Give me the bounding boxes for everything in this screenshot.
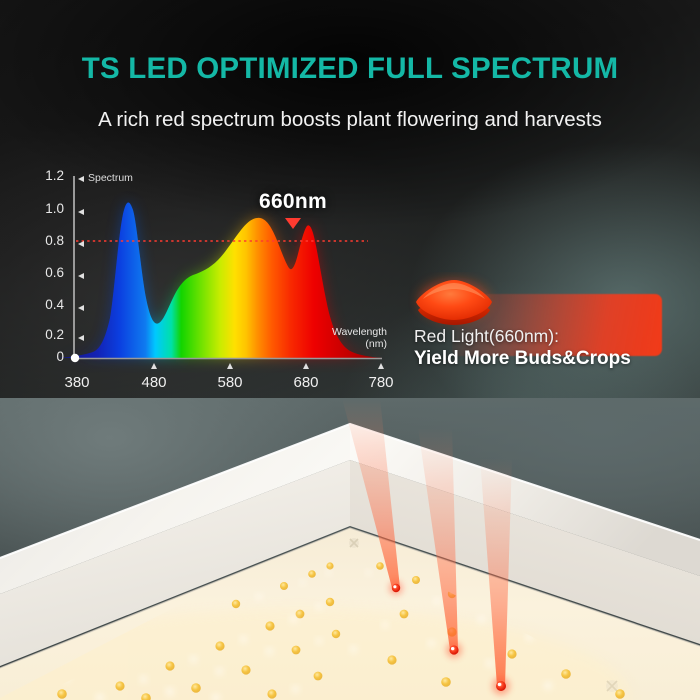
- x-axis-title-text: Wavelength: [332, 326, 387, 338]
- x-tick-label: 380: [52, 374, 102, 391]
- peak-marker-triangle-icon: [285, 218, 301, 229]
- y-tick-label: 1.2: [30, 168, 64, 183]
- x-tick-label: 680: [281, 374, 331, 391]
- led-panel-illustration: [0, 398, 700, 700]
- x-tick-label: 580: [205, 374, 255, 391]
- page-title: TS LED OPTIMIZED FULL SPECTRUM: [0, 52, 700, 86]
- screw-icon: [606, 680, 618, 692]
- red-led: [446, 642, 462, 658]
- x-axis-title: Wavelength (nm): [313, 326, 387, 350]
- promo-image: TS LED OPTIMIZED FULL SPECTRUM A rich re…: [0, 0, 700, 700]
- y-tick-label: 1.0: [30, 201, 64, 216]
- x-tick-label: 480: [129, 374, 179, 391]
- x-tick-marks: [151, 363, 384, 369]
- y-tick-label: 0: [30, 349, 64, 364]
- callout-line-1: Red Light(660nm):: [414, 326, 559, 347]
- y-tick-marks: [78, 176, 84, 341]
- red-led: [492, 677, 510, 695]
- x-tick-label: 780: [356, 374, 406, 391]
- y-tick-label: 0.2: [30, 327, 64, 342]
- y-tick-label: 0.8: [30, 233, 64, 248]
- y-tick-label: 0.4: [30, 297, 64, 312]
- y-tick-label: 0.6: [30, 265, 64, 280]
- led-diamond-icon: [408, 272, 500, 332]
- callout-line-2: Yield More Buds&Crops: [414, 348, 631, 370]
- page-subtitle: A rich red spectrum boosts plant floweri…: [0, 108, 700, 132]
- spectrum-chart: 1.2 1.0 0.8 0.6 0.4 0.2 0 380 480 580 68…: [30, 168, 390, 408]
- peak-annotation-label: 660nm: [228, 190, 358, 214]
- screw-icon: [349, 538, 359, 548]
- led-panel-photo: [0, 398, 700, 700]
- red-led: [389, 581, 403, 595]
- origin-dot: [71, 354, 79, 362]
- y-axis-title: Spectrum: [88, 172, 133, 184]
- x-axis-unit-text: (nm): [365, 338, 387, 350]
